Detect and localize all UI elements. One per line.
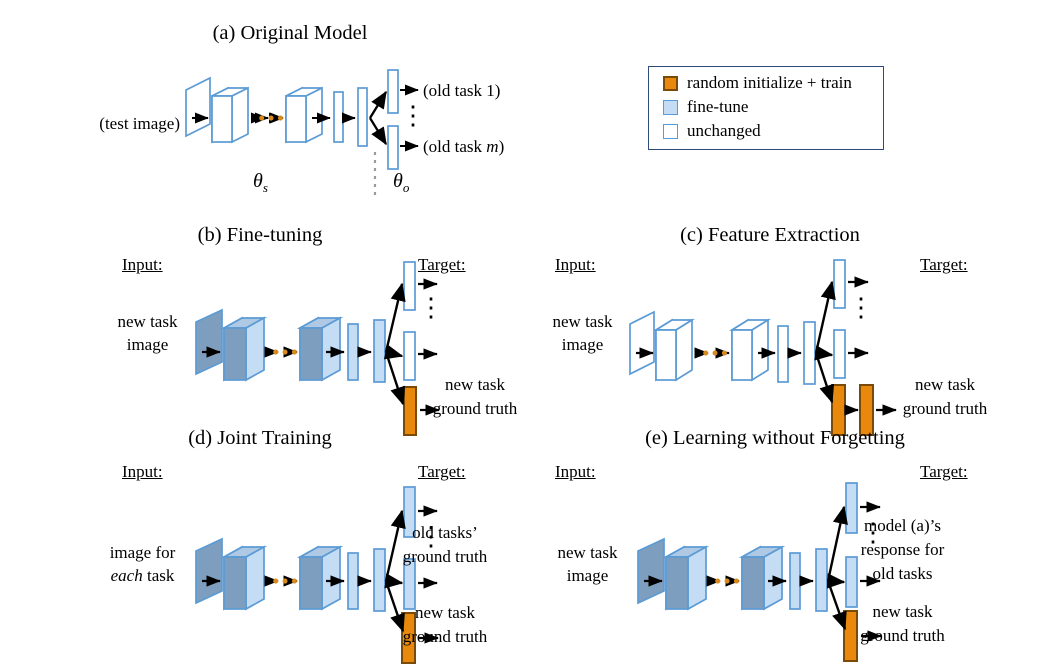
panel-a-vertical-ellipsis: ⋮ [400,108,414,124]
theta-shared-subscript: s [263,180,268,195]
panel-d-target-new-line1: new task [370,602,520,624]
panel-b-vertical-ellipsis: ⋮ [418,300,432,316]
panel-c-target-new-line1: new task [880,374,1010,396]
legend-swatch-unchanged [663,124,678,139]
panel-c-vertical-ellipsis: ⋮ [848,300,862,316]
panel-fine-tuning: (b) Fine-tuning Input: Target: new task … [0,222,520,422]
output-last-suffix: ) [499,137,505,156]
legend-swatch-train [663,76,678,91]
panel-a-theta-shared: θs [253,168,268,196]
legend-item-train: random initialize + train [663,71,883,95]
legend-label-train: random initialize + train [687,73,852,93]
panel-d-target-old-line1: old tasks’ [370,522,520,544]
theta-task-symbol: θ [393,170,403,192]
panel-a-ellipsis: ••• [258,108,286,129]
panel-learning-without-forgetting: (e) Learning without Forgetting Input: T… [520,425,1039,670]
output-last-prefix: (old task [423,137,486,156]
legend-box: random initialize + train fine-tune unch… [648,66,884,150]
legend-label-unchanged: unchanged [687,121,761,141]
theta-shared-symbol: θ [253,170,263,192]
legend-label-finetune: fine-tune [687,97,748,117]
panel-b-ellipsis: ••• [272,342,300,363]
panel-a-theta-task: θo [393,168,409,196]
panel-e-target-old-line2: response for [815,539,990,561]
legend-swatch-finetune [663,100,678,115]
panel-d-ellipsis: ••• [272,571,300,592]
panel-d-target-old-line2: ground truth [370,546,520,568]
legend-item-finetune: fine-tune [663,95,883,119]
theta-task-subscript: o [403,180,410,195]
panel-c-target-new-line2: ground truth [870,398,1020,420]
panel-joint-training: (d) Joint Training Input: Target: image … [0,425,520,670]
panel-feature-extraction: (c) Feature Extraction Input: Target: ne… [520,222,1039,422]
output-last-italic: m [486,137,498,156]
panel-e-target-old-line1: model (a)’s [815,515,990,537]
panel-c-ellipsis: ••• [702,343,730,364]
panel-d-target-new-line2: ground truth [370,626,520,648]
panel-original-model: (a) Original Model (test image) [0,0,560,215]
output-first-text: (old task 1) [423,81,500,100]
panel-e-ellipsis: ••• [714,571,742,592]
legend-item-unchanged: unchanged [663,119,883,143]
panel-a-output-label-last: (old task m) [423,136,504,158]
panel-a-output-label-first: (old task 1) [423,80,500,102]
panel-e-target-old-line3: old tasks [815,563,990,585]
panel-e-target-new-line2: ground truth [815,625,990,647]
panel-e-target-new-line1: new task [815,601,990,623]
